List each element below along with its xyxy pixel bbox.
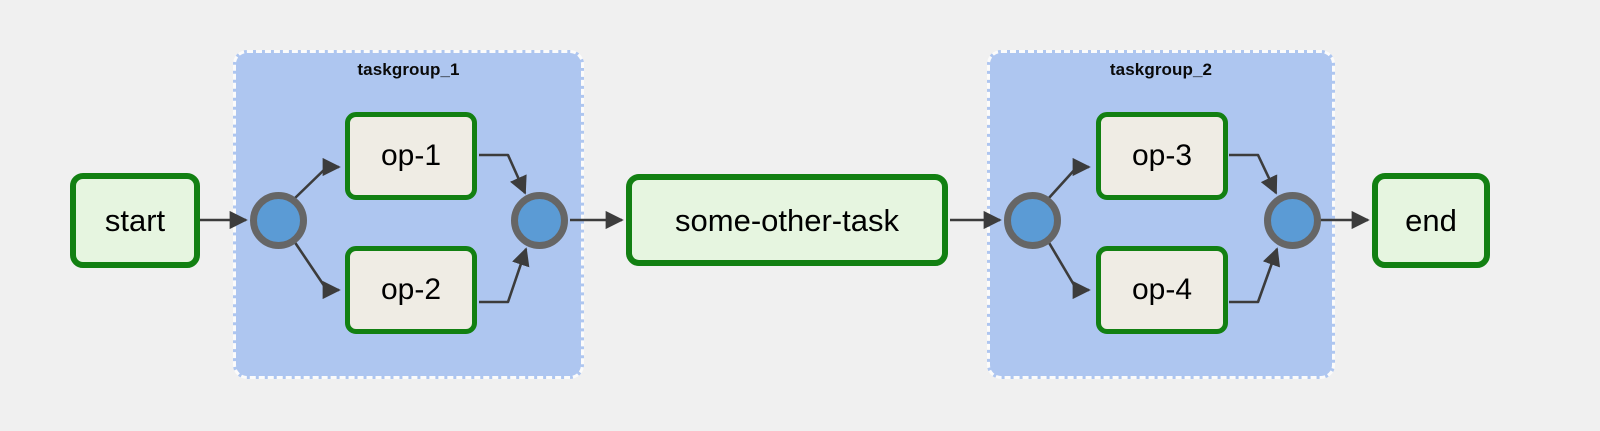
node-start-label: start (105, 205, 165, 236)
node-some-other-task-label: some-other-task (675, 205, 899, 236)
node-op-2[interactable]: op-2 (345, 246, 477, 334)
node-op-3[interactable]: op-3 (1096, 112, 1228, 200)
taskgroup-label-1: taskgroup_1 (236, 60, 581, 80)
node-op-3-label: op-3 (1132, 141, 1192, 171)
node-end-label: end (1405, 205, 1457, 236)
node-some-other-task[interactable]: some-other-task (626, 174, 948, 266)
junction-taskgroup2-exit[interactable] (1264, 192, 1321, 249)
junction-taskgroup1-exit[interactable] (511, 192, 568, 249)
node-start[interactable]: start (70, 173, 200, 268)
node-op-4-label: op-4 (1132, 275, 1192, 305)
junction-taskgroup1-entry[interactable] (250, 192, 307, 249)
node-op-1-label: op-1 (381, 141, 441, 171)
node-op-1[interactable]: op-1 (345, 112, 477, 200)
node-op-4[interactable]: op-4 (1096, 246, 1228, 334)
node-op-2-label: op-2 (381, 275, 441, 305)
junction-taskgroup2-entry[interactable] (1004, 192, 1061, 249)
taskgroup-label-2: taskgroup_2 (990, 60, 1332, 80)
dag-graph-canvas: taskgroup_1 taskgroup_2 (0, 0, 1600, 431)
node-end[interactable]: end (1372, 173, 1490, 268)
